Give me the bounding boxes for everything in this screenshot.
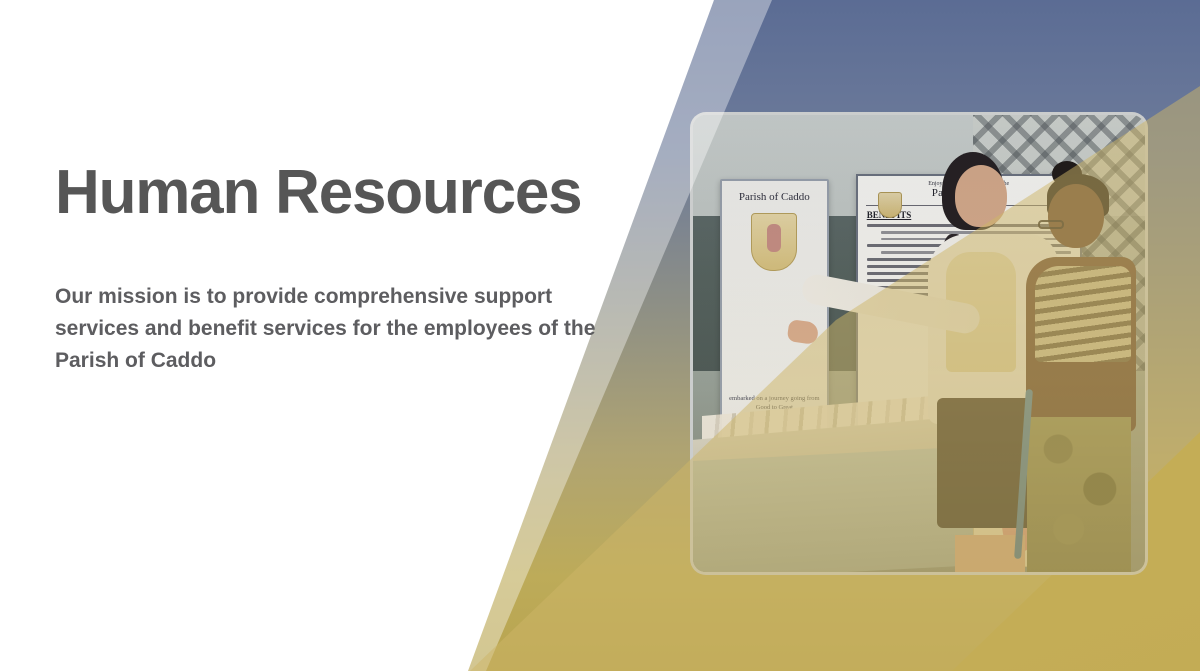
hero-banner: Human Resources Our mission is to provid… <box>0 0 1200 671</box>
mission-statement: Our mission is to provide comprehensive … <box>55 281 620 377</box>
photo-banner-crest-icon <box>751 213 797 271</box>
photo-person1-head <box>955 165 1007 227</box>
hero-text-column: Human Resources Our mission is to provid… <box>55 160 635 377</box>
photo-banner-title: Parish of Caddo <box>722 191 826 203</box>
photo-person2-striped-top <box>1035 266 1131 362</box>
photo-person2-head <box>1048 184 1104 248</box>
photo-poster-crest-icon <box>878 192 902 218</box>
photo-person2-glasses <box>1038 220 1064 229</box>
page-title: Human Resources <box>55 160 635 225</box>
hero-photo: Parish of Caddo embarked on a journey go… <box>693 115 1145 572</box>
hero-photo-frame: Parish of Caddo embarked on a journey go… <box>690 112 1148 575</box>
photo-person2-camo-pants <box>1027 417 1131 572</box>
photo-banner-footer-line1: embarked on a journey going from <box>722 394 826 404</box>
